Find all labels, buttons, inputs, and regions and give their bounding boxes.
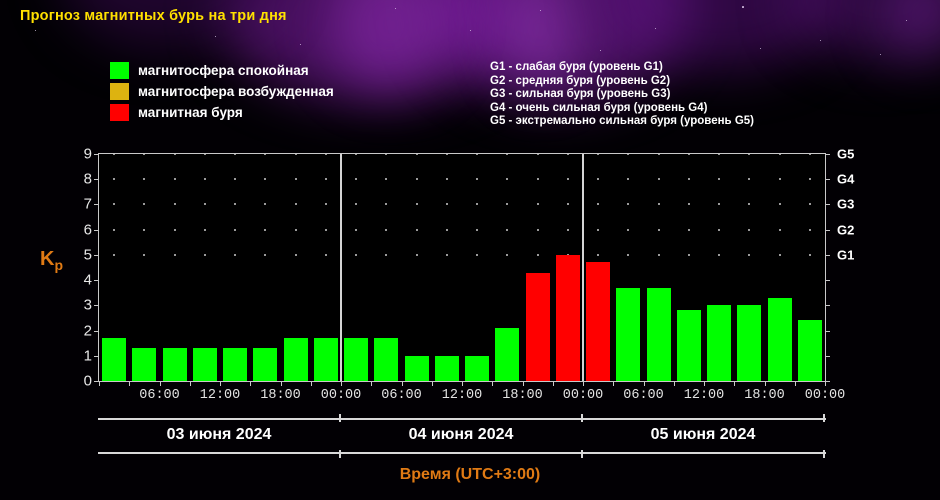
grid-dot: [476, 229, 478, 231]
bar[interactable]: [677, 310, 701, 381]
x-tick: [99, 381, 100, 386]
bar[interactable]: [163, 348, 187, 381]
grid-dot: [234, 254, 236, 256]
grid-dot: [446, 254, 448, 256]
grid-dot: [295, 154, 297, 155]
x-tick: [825, 381, 826, 386]
day-band-tick: [823, 450, 825, 458]
grid-dot: [264, 229, 266, 231]
g-scale-line-2: G2 - средняя буря (уровень G2): [490, 75, 754, 89]
bar[interactable]: [465, 356, 489, 381]
grid-dot: [597, 178, 599, 180]
g-scale-line-1: G1 - слабая буря (уровень G1): [490, 61, 754, 75]
grid-dot: [174, 254, 176, 256]
grid-dot: [658, 178, 660, 180]
legend-quiet: магнитосфера спокойная: [110, 60, 334, 81]
y-axis-title: Kp: [40, 248, 63, 273]
grid-dot: [537, 254, 539, 256]
legend-label: магнитосфера возбужденная: [138, 84, 334, 99]
x-tick-label: 12:00: [200, 388, 241, 403]
grid-dot: [597, 203, 599, 205]
bar[interactable]: [193, 348, 217, 381]
bar[interactable]: [737, 305, 761, 381]
grid-dot: [295, 203, 297, 205]
bar[interactable]: [344, 338, 368, 381]
x-tick: [432, 381, 433, 386]
g-scale-line-4: G4 - очень сильная буря (уровень G4): [490, 102, 754, 116]
grid-dot: [537, 154, 539, 155]
grid-dot: [597, 229, 599, 231]
grid-dot: [779, 229, 781, 231]
day-separator: [340, 154, 342, 381]
grid-dot: [748, 203, 750, 205]
x-tick: [674, 381, 675, 386]
y-tick-label: 8: [70, 171, 92, 188]
grid-dot: [748, 178, 750, 180]
grid-dot: [809, 254, 811, 256]
grid-dot: [264, 254, 266, 256]
bar[interactable]: [314, 338, 338, 381]
grid-dot: [204, 178, 206, 180]
grid-dot: [658, 203, 660, 205]
grid-dot: [627, 178, 629, 180]
grid-dot: [234, 178, 236, 180]
grid-dot: [779, 178, 781, 180]
grid-dot: [113, 178, 115, 180]
bar[interactable]: [647, 288, 671, 381]
y-tick-right: [825, 230, 830, 231]
grid-dot: [809, 154, 811, 155]
y-tick-right: [825, 305, 830, 306]
grid-dot: [234, 229, 236, 231]
y-tick-label: 7: [70, 196, 92, 213]
grid-dot: [506, 154, 508, 155]
y-tick: [94, 230, 99, 231]
grid-dot: [143, 203, 145, 205]
grid-dot: [446, 229, 448, 231]
grid-dot: [627, 254, 629, 256]
grid-dot: [416, 154, 418, 155]
grid-dot: [809, 229, 811, 231]
x-tick-label: 00:00: [563, 388, 604, 403]
x-tick: [250, 381, 251, 386]
grid-dot: [779, 154, 781, 155]
grid-dot: [204, 154, 206, 155]
grid-dot: [476, 254, 478, 256]
y-axis-title-sub: p: [54, 257, 63, 273]
grid-dot: [325, 203, 327, 205]
grid-dot: [295, 229, 297, 231]
g-level-label-g2: G2: [837, 222, 854, 237]
grid-dot: [476, 154, 478, 155]
grid-dot: [476, 203, 478, 205]
y-tick-label: 4: [70, 272, 92, 289]
bar[interactable]: [707, 305, 731, 381]
grid-dot: [506, 254, 508, 256]
grid-dot: [174, 154, 176, 155]
grid-dot: [143, 154, 145, 155]
grid-dot: [385, 178, 387, 180]
grid-dot: [416, 178, 418, 180]
y-tick-label: 9: [70, 146, 92, 163]
x-tick: [553, 381, 554, 386]
bar[interactable]: [253, 348, 277, 381]
grid-dot: [113, 154, 115, 155]
grid-dot: [627, 203, 629, 205]
x-tick-label: 06:00: [623, 388, 664, 403]
x-tick: [462, 381, 463, 386]
day-label-3: 05 июня 2024: [651, 426, 756, 444]
grid-dot: [809, 178, 811, 180]
y-tick: [94, 356, 99, 357]
x-tick: [734, 381, 735, 386]
x-tick-label: 12:00: [684, 388, 725, 403]
grid-dot: [567, 154, 569, 155]
bar[interactable]: [102, 338, 126, 381]
grid-dot: [264, 154, 266, 155]
x-tick-label: 00:00: [805, 388, 846, 403]
y-tick-right: [825, 280, 830, 281]
x-tick: [281, 381, 282, 386]
grid-dot: [718, 178, 720, 180]
grid-dot: [476, 178, 478, 180]
legend-storm: магнитная буря: [110, 102, 334, 123]
grid-dot: [174, 178, 176, 180]
grid-dot: [446, 154, 448, 155]
grid-dot: [718, 203, 720, 205]
magnetosphere-legend: магнитосфера спокойнаямагнитосфера возбу…: [110, 60, 334, 123]
y-tick-label: 3: [70, 297, 92, 314]
x-tick: [613, 381, 614, 386]
bar[interactable]: [405, 356, 429, 381]
grid-dot: [416, 229, 418, 231]
x-tick: [160, 381, 161, 386]
y-tick-label: 5: [70, 246, 92, 263]
day-separator: [582, 154, 584, 381]
grid-dot: [718, 229, 720, 231]
grid-dot: [627, 229, 629, 231]
grid-dot: [355, 154, 357, 155]
y-tick: [94, 204, 99, 205]
grid-dot: [416, 254, 418, 256]
grid-dot: [658, 154, 660, 155]
grid-dot: [355, 229, 357, 231]
grid-dot: [385, 203, 387, 205]
grid-dot: [779, 254, 781, 256]
y-tick: [94, 154, 99, 155]
x-tick: [704, 381, 705, 386]
x-tick: [583, 381, 584, 386]
y-tick-right: [825, 179, 830, 180]
grid-dot: [355, 203, 357, 205]
y-tick-label: 2: [70, 322, 92, 339]
grid-dot: [264, 178, 266, 180]
x-tick-label: 00:00: [321, 388, 362, 403]
x-tick-label: 06:00: [381, 388, 422, 403]
grid-dot: [295, 254, 297, 256]
grid-dot: [567, 229, 569, 231]
g-scale-legend: G1 - слабая буря (уровень G1)G2 - средня…: [490, 61, 754, 129]
grid-dot: [688, 203, 690, 205]
legend-swatch-icon: [110, 62, 129, 79]
day-band: 03 июня 202404 июня 202405 июня 2024: [98, 418, 826, 454]
grid-dot: [204, 203, 206, 205]
grid-dot: [506, 178, 508, 180]
grid-dot: [809, 203, 811, 205]
legend-label: магнитосфера спокойная: [138, 63, 309, 78]
grid-dot: [597, 154, 599, 155]
y-tick-label: 0: [70, 373, 92, 390]
day-label-2: 04 июня 2024: [409, 426, 514, 444]
g-level-label-g5: G5: [837, 147, 854, 162]
x-tick: [371, 381, 372, 386]
grid-dot: [325, 254, 327, 256]
grid-dot: [446, 178, 448, 180]
grid-dot: [355, 254, 357, 256]
x-tick: [523, 381, 524, 386]
legend-swatch-icon: [110, 83, 129, 100]
grid-dot: [143, 178, 145, 180]
page-title: Прогноз магнитных бурь на три дня: [20, 8, 287, 24]
grid-dot: [143, 229, 145, 231]
y-tick-label: 6: [70, 221, 92, 238]
grid-dot: [688, 229, 690, 231]
day-band-tick: [581, 414, 583, 422]
grid-dot: [113, 203, 115, 205]
day-band-tick: [339, 450, 341, 458]
plot-inner: [99, 154, 825, 381]
x-tick: [220, 381, 221, 386]
grid-dot: [748, 254, 750, 256]
y-tick: [94, 255, 99, 256]
y-tick-right: [825, 331, 830, 332]
y-axis-title-main: K: [40, 248, 54, 270]
bar[interactable]: [556, 255, 580, 381]
day-band-tick: [339, 414, 341, 422]
grid-dot: [234, 203, 236, 205]
y-tick-label: 1: [70, 347, 92, 364]
grid-dot: [234, 154, 236, 155]
grid-dot: [264, 203, 266, 205]
g-level-label-g1: G1: [837, 247, 854, 262]
x-tick: [644, 381, 645, 386]
grid-dot: [537, 229, 539, 231]
y-tick-right: [825, 356, 830, 357]
bar[interactable]: [768, 298, 792, 381]
grid-dot: [688, 178, 690, 180]
bar[interactable]: [616, 288, 640, 381]
grid-dot: [204, 254, 206, 256]
grid-dot: [748, 154, 750, 155]
x-tick: [129, 381, 130, 386]
g-level-label-g4: G4: [837, 172, 854, 187]
bar[interactable]: [526, 273, 550, 381]
grid-dot: [446, 203, 448, 205]
bar[interactable]: [284, 338, 308, 381]
grid-dot: [355, 178, 357, 180]
g-level-label-g3: G3: [837, 197, 854, 212]
legend-unsettled: магнитосфера возбужденная: [110, 81, 334, 102]
x-tick: [402, 381, 403, 386]
grid-dot: [748, 229, 750, 231]
x-tick: [795, 381, 796, 386]
y-tick: [94, 179, 99, 180]
bar[interactable]: [435, 356, 459, 381]
kp-index-chart: 0123456789G1G2G3G4G506:0012:0018:0000:00…: [98, 153, 826, 382]
grid-dot: [325, 229, 327, 231]
y-tick-right: [825, 255, 830, 256]
grid-dot: [385, 254, 387, 256]
x-tick-label: 18:00: [744, 388, 785, 403]
grid-dot: [113, 254, 115, 256]
g-scale-line-5: G5 - экстремально сильная буря (уровень …: [490, 115, 754, 129]
grid-dot: [385, 229, 387, 231]
grid-dot: [627, 154, 629, 155]
grid-dot: [688, 154, 690, 155]
grid-dot: [416, 203, 418, 205]
x-tick-label: 12:00: [442, 388, 483, 403]
grid-dot: [385, 154, 387, 155]
grid-dot: [174, 203, 176, 205]
grid-dot: [295, 178, 297, 180]
grid-dot: [325, 154, 327, 155]
grid-dot: [779, 203, 781, 205]
grid-dot: [718, 154, 720, 155]
day-band-tick: [581, 450, 583, 458]
x-tick-label: 06:00: [139, 388, 180, 403]
y-tick: [94, 331, 99, 332]
x-axis-title: Время (UTC+3:00): [0, 466, 940, 484]
grid-dot: [718, 254, 720, 256]
grid-dot: [658, 254, 660, 256]
grid-dot: [537, 178, 539, 180]
y-tick: [94, 280, 99, 281]
grid-dot: [143, 254, 145, 256]
g-scale-line-3: G3 - сильная буря (уровень G3): [490, 88, 754, 102]
x-tick-label: 18:00: [260, 388, 301, 403]
x-tick: [190, 381, 191, 386]
grid-dot: [174, 229, 176, 231]
y-tick-right: [825, 154, 830, 155]
legend-label: магнитная буря: [138, 105, 243, 120]
grid-dot: [658, 229, 660, 231]
x-tick: [492, 381, 493, 386]
y-tick-right: [825, 204, 830, 205]
day-band-tick: [823, 414, 825, 422]
grid-dot: [567, 203, 569, 205]
grid-dot: [506, 203, 508, 205]
legend-swatch-icon: [110, 104, 129, 121]
bar[interactable]: [495, 328, 519, 381]
grid-dot: [506, 229, 508, 231]
day-label-1: 03 июня 2024: [167, 426, 272, 444]
plot-area: 0123456789G1G2G3G4G506:0012:0018:0000:00…: [98, 153, 826, 382]
bar[interactable]: [132, 348, 156, 381]
bar[interactable]: [374, 338, 398, 381]
bar[interactable]: [223, 348, 247, 381]
grid-dot: [537, 203, 539, 205]
grid-dot: [113, 229, 115, 231]
x-tick: [311, 381, 312, 386]
x-tick: [765, 381, 766, 386]
grid-dot: [325, 178, 327, 180]
grid-dot: [567, 178, 569, 180]
grid-dot: [204, 229, 206, 231]
x-tick: [341, 381, 342, 386]
bar[interactable]: [586, 262, 610, 381]
bar[interactable]: [798, 320, 822, 381]
grid-dot: [688, 254, 690, 256]
x-tick-label: 18:00: [502, 388, 543, 403]
y-tick: [94, 305, 99, 306]
grid-dot: [597, 254, 599, 256]
